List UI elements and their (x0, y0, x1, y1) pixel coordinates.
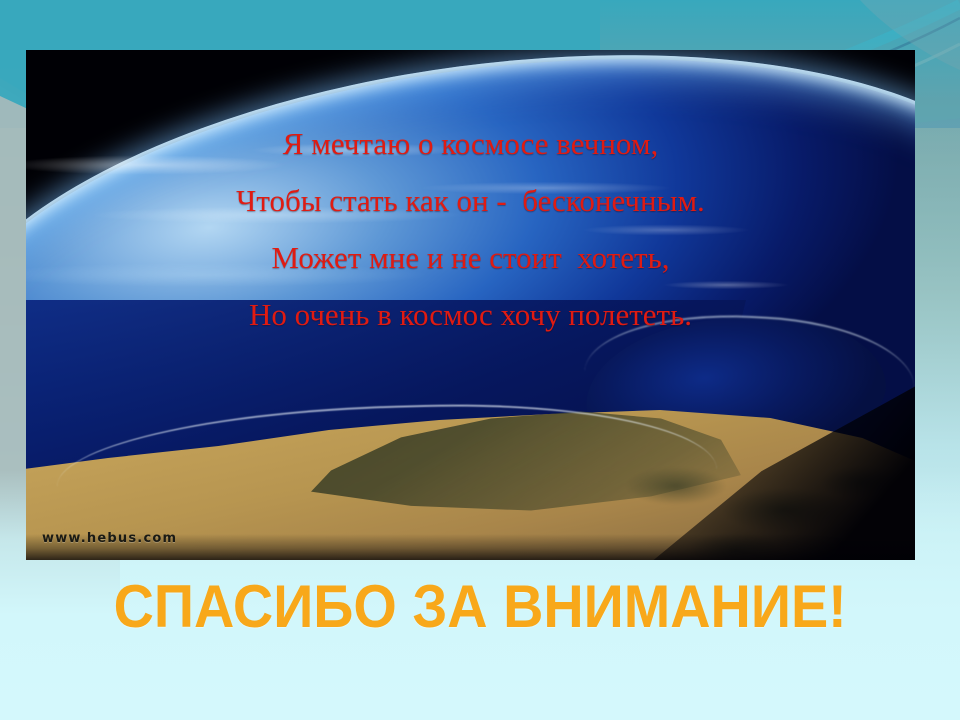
poem-block: Я мечтаю о космосе вечном, Чтобы стать к… (26, 128, 915, 330)
slide-canvas: www.hebus.com Я мечтаю о космосе вечном,… (0, 0, 960, 720)
poem-line-2: Чтобы стать как он - бесконечным. (26, 185, 915, 216)
poem-line-4: Но очень в космос хочу полететь. (26, 299, 915, 330)
photo-watermark: www.hebus.com (42, 531, 177, 546)
slide-title-text: СПАСИБО ЗА ВНИМАНИЕ! (113, 572, 846, 641)
poem-line-3: Может мне и не стоит хотеть, (26, 242, 915, 273)
poem-line-1: Я мечтаю о космосе вечном, (26, 128, 915, 159)
slide-title: СПАСИБО ЗА ВНИМАНИЕ! (0, 572, 960, 641)
